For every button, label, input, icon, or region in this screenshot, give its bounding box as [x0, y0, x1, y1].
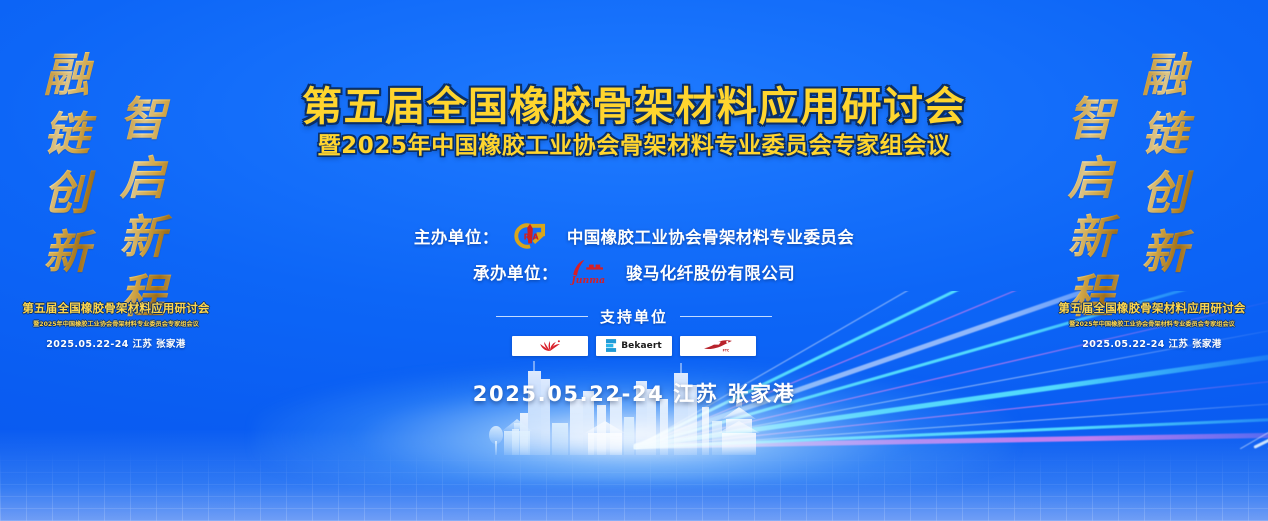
side-card-date: 2025.05.22-24 江苏 张家港: [1042, 336, 1262, 350]
center-content: 第五届全国橡胶骨架材料应用研讨会 暨2025年中国橡胶工业协会骨架材料专业委员会…: [232, 0, 1036, 521]
bekaert-label: Bekaert: [621, 341, 662, 351]
organizer-label: 主办单位：: [414, 224, 499, 248]
support-title: 支持单位: [600, 306, 668, 327]
organizer-row: 主办单位： RIA 中国橡胶工业协会骨架材料专业委员会: [232, 218, 1036, 254]
side-card-subtitle: 暨2025年中国橡胶工业协会骨架材料专业委员会专家组会议: [1042, 319, 1262, 328]
title-main: 第五届全国橡胶骨架材料应用研讨会: [232, 86, 1036, 128]
conference-banner: 融链创新 智启新程 第五届全国橡胶骨架材料应用研讨会 暨2025年中国橡胶工业协…: [0, 0, 1268, 521]
right-side-panel: 融链创新 智启新程 第五届全国橡胶骨架材料应用研讨会 暨2025年中国橡胶工业协…: [1036, 0, 1268, 521]
red-bird-logo: FTC: [702, 337, 734, 356]
svg-text:RIA: RIA: [523, 233, 539, 242]
support-logo-card: [512, 336, 588, 356]
support-block: 支持单位: [232, 306, 1036, 356]
support-header: 支持单位: [232, 306, 1036, 327]
svg-text:Junma: Junma: [569, 275, 605, 286]
support-logo-card: FTC: [680, 336, 756, 356]
side-card-title: 第五届全国橡胶骨架材料应用研讨会: [6, 300, 226, 316]
date-location: 2025.05.22-24 江苏 张家港: [232, 378, 1036, 408]
sunburst-logo: [538, 337, 562, 356]
title-sub: 暨2025年中国橡胶工业协会骨架材料专业委员会专家组会议: [232, 133, 1036, 159]
divider-left: [496, 316, 588, 318]
cria-logo: RIA: [503, 221, 559, 251]
calligraphy-col-zhi-qi-xin-cheng: 智启新程: [1054, 90, 1128, 326]
left-side-panel: 融链创新 智启新程 第五届全国橡胶骨架材料应用研讨会 暨2025年中国橡胶工业协…: [0, 0, 232, 521]
divider-right: [680, 316, 772, 318]
side-card-date: 2025.05.22-24 江苏 张家港: [6, 336, 226, 350]
right-side-card: 第五届全国橡胶骨架材料应用研讨会 暨2025年中国橡胶工业协会骨架材料专业委员会…: [1036, 300, 1268, 350]
page-title: 第五届全国橡胶骨架材料应用研讨会 暨2025年中国橡胶工业协会骨架材料专业委员会…: [232, 86, 1036, 160]
side-card-title: 第五届全国橡胶骨架材料应用研讨会: [1042, 300, 1262, 316]
right-calligraphy: 融链创新 智启新程: [1036, 46, 1268, 296]
organizer-label: 承办单位：: [473, 260, 558, 284]
organizer-name: 骏马化纤股份有限公司: [626, 260, 795, 284]
calligraphy-col-zhi-qi-xin-cheng: 智启新程: [106, 90, 180, 326]
bekaert-logo: [606, 337, 617, 356]
organizer-row: 承办单位： Junma 骏马化纤股份有限公司: [232, 254, 1036, 290]
support-logos: Bekaert FTC: [232, 336, 1036, 356]
calligraphy-col-rong-lian-chuang-xin: 融链创新: [1128, 46, 1202, 282]
left-calligraphy: 融链创新 智启新程: [0, 46, 232, 296]
junma-logo: Junma: [562, 257, 618, 287]
organizers-block: 主办单位： RIA 中国橡胶工业协会骨架材料专业委员会 承办单位：: [232, 218, 1036, 290]
calligraphy-col-rong-lian-chuang-xin: 融链创新: [30, 46, 104, 282]
svg-text:FTC: FTC: [723, 348, 730, 352]
side-card-subtitle: 暨2025年中国橡胶工业协会骨架材料专业委员会专家组会议: [6, 319, 226, 328]
organizer-name: 中国橡胶工业协会骨架材料专业委员会: [567, 224, 854, 248]
support-logo-card: Bekaert: [596, 336, 672, 356]
left-side-card: 第五届全国橡胶骨架材料应用研讨会 暨2025年中国橡胶工业协会骨架材料专业委员会…: [0, 300, 232, 350]
